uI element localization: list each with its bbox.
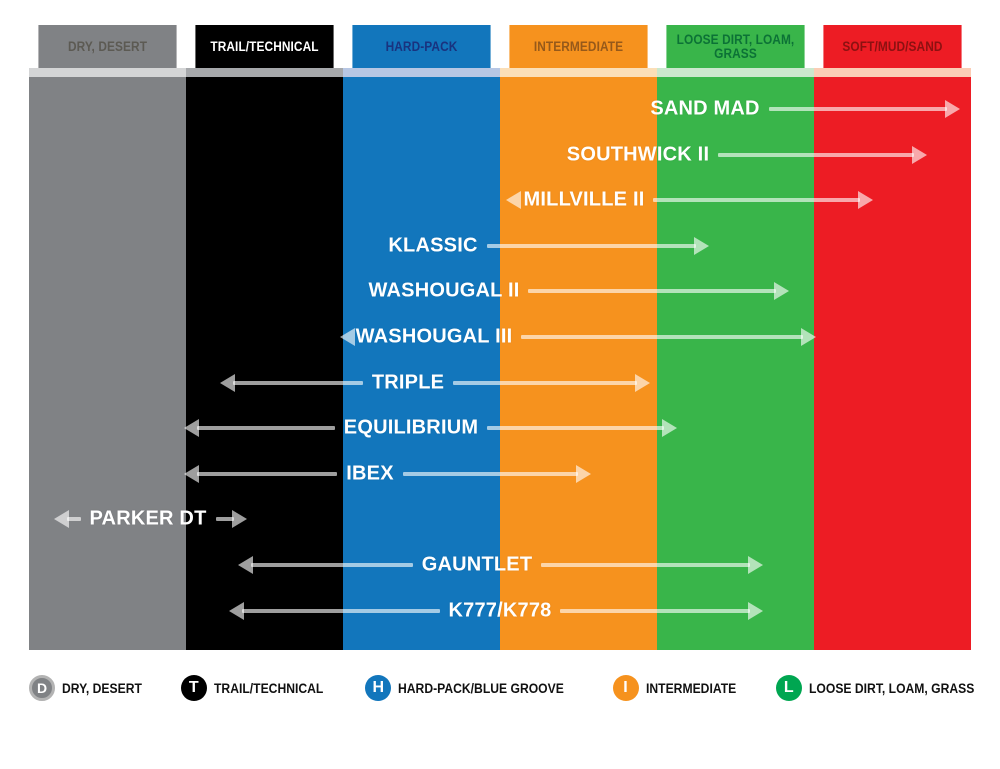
range-bar-left xyxy=(251,563,413,567)
arrow-head-left-icon xyxy=(229,602,244,620)
legend-item-i[interactable]: IINTERMEDIATE xyxy=(613,675,746,701)
arrow-head-right-icon xyxy=(748,602,763,620)
legend-badge-letter: I xyxy=(623,679,627,697)
range-bar-right xyxy=(653,198,860,202)
column-header-hardpack: HARD-PACK xyxy=(352,25,490,68)
tire-name-label: TRIPLE xyxy=(363,371,453,394)
column-header-label: SOFT/MUD/SAND xyxy=(839,40,946,54)
tire-name-label: SAND MAD xyxy=(641,98,768,121)
arrow-head-right-icon xyxy=(945,100,960,118)
legend-badge-letter: H xyxy=(372,679,384,697)
range-bar-right xyxy=(487,426,664,430)
header-separator-soft xyxy=(814,68,971,77)
header-separator-dry xyxy=(29,68,186,77)
legend-badge-icon: D xyxy=(29,675,55,701)
tire-name-label: GAUNTLET xyxy=(413,554,541,577)
arrow-head-left-icon xyxy=(184,419,199,437)
arrow-head-right-icon xyxy=(801,328,816,346)
column-header-dry: DRY, DESERT xyxy=(38,25,176,68)
header-separator-intermediate xyxy=(500,68,657,77)
arrow-head-right-icon xyxy=(662,419,677,437)
arrow-head-right-icon xyxy=(748,556,763,574)
tire-name-label: EQUILIBRIUM xyxy=(335,417,487,440)
header-separator-loose xyxy=(657,68,814,77)
arrow-head-left-icon xyxy=(220,374,235,392)
tire-name-label: PARKER DT xyxy=(81,508,216,531)
arrow-head-right-icon xyxy=(858,191,873,209)
legend-item-t[interactable]: TTRAIL/TECHNICAL xyxy=(181,675,336,701)
range-bar-right xyxy=(718,153,914,157)
range-bar-right xyxy=(453,381,637,385)
tire-name-label: SOUTHWICK II xyxy=(558,143,718,166)
legend-item-l[interactable]: LLOOSE DIRT, LOAM, GRASS xyxy=(776,675,993,701)
legend: DDRY, DESERTTTRAIL/TECHNICALHHARD-PACK/B… xyxy=(29,668,971,708)
column-header-soft: SOFT/MUD/SAND xyxy=(823,25,961,68)
range-bar-left xyxy=(67,517,81,521)
legend-item-label: LOOSE DIRT, LOAM, GRASS xyxy=(809,681,974,696)
arrow-head-left-icon xyxy=(54,510,69,528)
column-header-trail: TRAIL/TECHNICAL xyxy=(195,25,333,68)
column-header-label: LOOSE DIRT, LOAM, GRASS xyxy=(666,33,804,61)
header-separator-trail xyxy=(186,68,343,77)
legend-item-label: TRAIL/TECHNICAL xyxy=(214,681,323,696)
tire-name-label: IBEX xyxy=(337,462,402,485)
legend-badge-letter: T xyxy=(189,679,199,697)
tire-name-label: MILLVILLE II xyxy=(515,189,654,212)
arrow-head-left-icon xyxy=(238,556,253,574)
arrow-head-left-icon xyxy=(340,328,355,346)
arrow-head-right-icon xyxy=(576,465,591,483)
range-bar-right xyxy=(487,244,696,248)
legend-badge-icon: L xyxy=(776,675,802,701)
legend-badge-icon: H xyxy=(365,675,391,701)
arrow-head-right-icon xyxy=(774,282,789,300)
range-bar-right xyxy=(528,289,776,293)
legend-item-label: HARD-PACK/BLUE GROOVE xyxy=(398,681,564,696)
column-header-label: DRY, DESERT xyxy=(64,40,150,54)
arrow-head-right-icon xyxy=(694,237,709,255)
column-header-label: TRAIL/TECHNICAL xyxy=(207,40,322,54)
header-separator-hardpack xyxy=(343,68,500,77)
legend-item-label: DRY, DESERT xyxy=(62,681,142,696)
range-bar-right xyxy=(541,563,750,567)
chart-header-separator xyxy=(29,68,971,77)
legend-badge-letter: D xyxy=(37,680,47,696)
tire-name-label: WASHOUGAL II xyxy=(360,280,529,303)
column-header-loose: LOOSE DIRT, LOAM, GRASS xyxy=(666,25,804,68)
range-bar-left xyxy=(233,381,363,385)
arrow-head-left-icon xyxy=(506,191,521,209)
legend-item-h[interactable]: HHARD-PACK/BLUE GROOVE xyxy=(365,675,582,701)
arrow-head-left-icon xyxy=(184,465,199,483)
column-header-label: HARD-PACK xyxy=(382,40,461,54)
range-bar-right xyxy=(521,335,803,339)
range-bar-right xyxy=(403,472,578,476)
chart-header-row: DRY, DESERTTRAIL/TECHNICALHARD-PACKINTER… xyxy=(29,25,971,68)
column-header-label: INTERMEDIATE xyxy=(530,40,626,54)
tire-name-label: KLASSIC xyxy=(379,234,486,257)
tire-name-label: K777/K778 xyxy=(440,599,561,622)
column-header-intermediate: INTERMEDIATE xyxy=(509,25,647,68)
tire-rows-layer: SAND MADSOUTHWICK IIMILLVILLE IIKLASSICW… xyxy=(29,77,971,650)
legend-item-d[interactable]: DDRY, DESERT xyxy=(29,675,151,701)
arrow-head-right-icon xyxy=(635,374,650,392)
arrow-head-right-icon xyxy=(912,146,927,164)
legend-badge-letter: L xyxy=(784,679,794,697)
range-bar-right xyxy=(560,609,750,613)
tire-name-label: WASHOUGAL III xyxy=(347,326,522,349)
range-bar-left xyxy=(197,472,337,476)
arrow-head-right-icon xyxy=(232,510,247,528)
range-bar-left xyxy=(242,609,440,613)
terrain-chart: DRY, DESERTTRAIL/TECHNICALHARD-PACKINTER… xyxy=(29,25,971,650)
range-bar-left xyxy=(197,426,335,430)
legend-badge-icon: I xyxy=(613,675,639,701)
legend-badge-icon: T xyxy=(181,675,207,701)
legend-item-label: INTERMEDIATE xyxy=(646,681,736,696)
range-bar-right xyxy=(769,107,947,111)
